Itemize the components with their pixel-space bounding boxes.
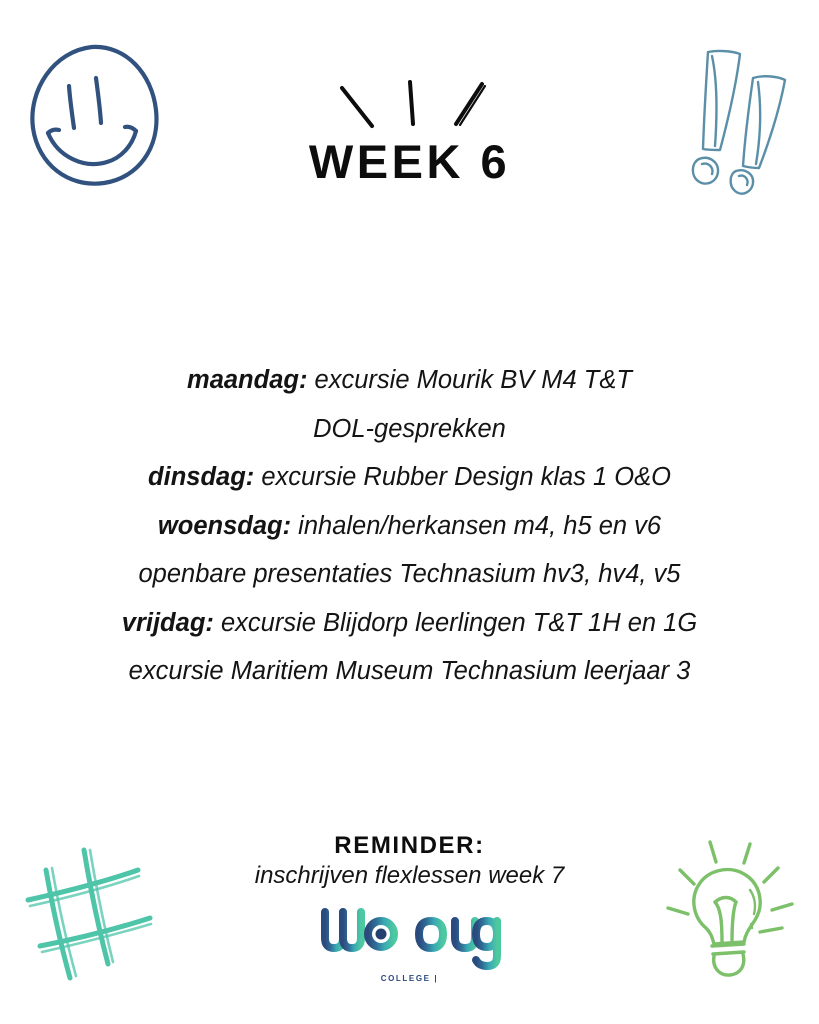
agenda-day-label: maandag: xyxy=(187,366,307,394)
agenda-line: openbare presentaties Technasium hv3, hv… xyxy=(0,550,819,599)
agenda-day-label: woensdag: xyxy=(158,512,291,540)
agenda-line-text: excursie Mourik BV M4 T&T xyxy=(307,366,632,394)
agenda-line-text: inhalen/herkansen m4, h5 en v6 xyxy=(291,512,661,540)
lightbulb-doodle xyxy=(654,832,810,998)
hashtag-doodle xyxy=(12,842,160,1000)
walburg-wordmark-icon xyxy=(315,900,505,972)
agenda-line: DOL-gesprekken xyxy=(0,405,819,454)
agenda-line-text: openbare presentaties Technasium hv3, hv… xyxy=(139,560,681,588)
agenda-day-label: vrijdag: xyxy=(122,609,214,637)
agenda-line-text: excursie Maritiem Museum Technasium leer… xyxy=(129,657,691,685)
agenda-line: vrijdag: excursie Blijdorp leerlingen T&… xyxy=(0,599,819,648)
page-title: WEEK 6 xyxy=(0,138,819,185)
agenda-line: excursie Maritiem Museum Technasium leer… xyxy=(0,647,819,696)
agenda-line: dinsdag: excursie Rubber Design klas 1 O… xyxy=(0,453,819,502)
agenda-line: woensdag: inhalen/herkansen m4, h5 en v6 xyxy=(0,502,819,551)
agenda-line: maandag: excursie Mourik BV M4 T&T xyxy=(0,356,819,405)
agenda-list: maandag: excursie Mourik BV M4 T&T DOL-g… xyxy=(0,356,819,696)
agenda-day-label: dinsdag: xyxy=(148,463,254,491)
logo-eye-dot xyxy=(375,929,386,940)
agenda-line-text: DOL-gesprekken xyxy=(313,415,506,443)
agenda-line-text: excursie Rubber Design klas 1 O&O xyxy=(254,463,671,491)
agenda-line-text: excursie Blijdorp leerlingen T&T 1H en 1… xyxy=(214,609,697,637)
three-tick-strokes-icon xyxy=(310,78,510,130)
page-header: WEEK 6 xyxy=(0,78,819,185)
